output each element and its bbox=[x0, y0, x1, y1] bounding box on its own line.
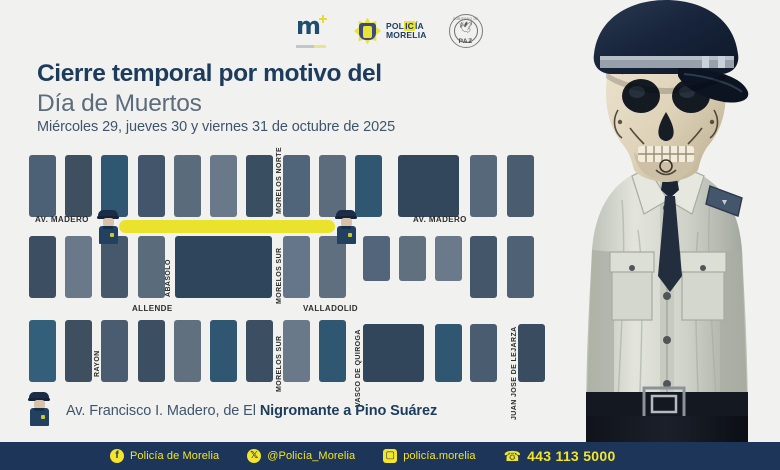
page-title-line1: Cierre temporal por motivo del bbox=[37, 60, 382, 88]
map-city-block bbox=[398, 155, 459, 217]
map-city-block bbox=[319, 236, 346, 298]
event-dates: Miércoles 29, jueves 30 y viernes 31 de … bbox=[37, 119, 395, 135]
map-city-block bbox=[363, 324, 424, 382]
contact-phone[interactable]: ☎ 443 113 5000 bbox=[504, 448, 616, 465]
map-city-block bbox=[283, 155, 310, 217]
footer-bar: f Policía de Morelia 𝕏 @Policía_Morelia … bbox=[0, 442, 780, 470]
map-city-block bbox=[319, 155, 346, 217]
map-city-block bbox=[138, 320, 165, 382]
morelia-plus-icon bbox=[319, 15, 327, 23]
street-label-vertical: ABASOLO bbox=[165, 259, 172, 297]
policia-morelia-wordmark: POLICÍA MORELIA bbox=[386, 22, 427, 41]
facebook-handle: Policía de Morelia bbox=[130, 450, 219, 462]
paz-logo: GOBIERNO DE 🕊 PAZ bbox=[449, 14, 483, 48]
map-city-block bbox=[470, 324, 497, 382]
map-city-block bbox=[399, 236, 426, 281]
map-city-block bbox=[29, 155, 56, 217]
officer-collar-shape bbox=[341, 226, 351, 229]
police-badge-icon bbox=[354, 18, 381, 45]
street-label-vertical: RAYON bbox=[94, 350, 101, 377]
map-city-block bbox=[283, 320, 310, 382]
map-city-block bbox=[175, 236, 272, 298]
map-city-block bbox=[319, 320, 346, 382]
map-city-block bbox=[210, 155, 237, 217]
map-city-block bbox=[355, 155, 382, 217]
policia-morelia-logo: POLICÍA MORELIA bbox=[354, 18, 427, 45]
paz-logo-label: PAZ bbox=[450, 38, 482, 45]
social-facebook[interactable]: f Policía de Morelia bbox=[110, 449, 219, 463]
officer-badge-shape bbox=[110, 233, 114, 237]
instagram-icon: ▢ bbox=[383, 449, 397, 463]
poster-canvas: m POLICÍA MORELIA GOBIERNO DE 🕊 PAZ Cier… bbox=[0, 0, 780, 470]
map-city-block bbox=[470, 155, 497, 217]
morelia-logo-underline bbox=[296, 45, 326, 48]
police-officer-icon bbox=[28, 392, 54, 430]
map-city-block bbox=[210, 320, 237, 382]
map-city-block bbox=[246, 155, 273, 217]
map-city-block bbox=[246, 320, 273, 382]
facebook-icon: f bbox=[110, 449, 124, 463]
map-city-block bbox=[363, 236, 390, 281]
phone-icon: ☎ bbox=[504, 448, 521, 465]
officer-collar-shape bbox=[34, 408, 44, 411]
street-label-horizontal: ALLENDE bbox=[132, 304, 173, 313]
map-city-block bbox=[470, 236, 497, 298]
social-x-twitter[interactable]: 𝕏 @Policía_Morelia bbox=[247, 449, 355, 463]
officer-collar-shape bbox=[103, 226, 113, 229]
phone-number: 443 113 5000 bbox=[527, 448, 615, 464]
instagram-handle: policía.morelia bbox=[403, 450, 475, 462]
closure-description-bold: Nigromante a Pino Suárez bbox=[260, 403, 437, 419]
police-officer-marker-west bbox=[97, 210, 119, 244]
dove-icon: 🕊 bbox=[459, 23, 473, 34]
map-city-block bbox=[507, 155, 534, 217]
social-instagram[interactable]: ▢ policía.morelia bbox=[383, 449, 475, 463]
map-city-block bbox=[507, 236, 534, 298]
map-city-block bbox=[101, 155, 128, 217]
street-label-horizontal: VALLADOLID bbox=[303, 304, 358, 313]
policia-word-highlight: IC bbox=[404, 21, 415, 31]
map-city-block bbox=[435, 236, 462, 281]
street-label-horizontal: AV. MADERO bbox=[35, 215, 89, 224]
x-twitter-handle: @Policía_Morelia bbox=[267, 450, 355, 462]
map-city-block bbox=[101, 236, 128, 298]
map-city-block bbox=[174, 155, 201, 217]
map-city-block bbox=[518, 324, 545, 382]
morelia-word: MORELIA bbox=[386, 31, 427, 41]
map-city-block bbox=[29, 236, 56, 298]
badge-emblem-glyph bbox=[363, 26, 372, 38]
morelia-m-logo: m bbox=[296, 14, 332, 48]
officer-badge-shape bbox=[41, 415, 45, 419]
policia-word-pre: POL bbox=[386, 21, 404, 31]
map-city-block bbox=[65, 155, 92, 217]
closure-description: Av. Francisco I. Madero, de El Nigromant… bbox=[66, 403, 437, 419]
street-closure-bar bbox=[119, 220, 335, 233]
police-officer-marker-east bbox=[335, 210, 357, 244]
map-city-block bbox=[65, 236, 92, 298]
legend-row: Av. Francisco I. Madero, de El Nigromant… bbox=[28, 392, 437, 430]
x-twitter-icon: 𝕏 bbox=[247, 449, 261, 463]
map-city-block bbox=[283, 236, 310, 298]
day-of-the-dead-police-officer-illustration bbox=[552, 0, 780, 442]
officer-badge-shape bbox=[348, 233, 352, 237]
street-label-vertical: MORELOS NORTE bbox=[276, 147, 283, 214]
closure-description-plain: Av. Francisco I. Madero, de El bbox=[66, 403, 260, 419]
street-label-horizontal: AV. MADERO bbox=[413, 215, 467, 224]
map-city-block bbox=[29, 320, 56, 382]
map-city-block bbox=[101, 320, 128, 382]
map-city-block bbox=[435, 324, 462, 382]
logo-strip: m POLICÍA MORELIA GOBIERNO DE 🕊 PAZ bbox=[296, 11, 506, 51]
street-label-vertical: MORELOS SUR bbox=[276, 335, 283, 392]
map-city-block bbox=[174, 320, 201, 382]
map-city-block bbox=[138, 155, 165, 217]
street-label-vertical: JUAN JOSE DE LEJARZA bbox=[511, 326, 518, 420]
map-city-block bbox=[138, 236, 165, 298]
policia-word-post: ÍA bbox=[415, 21, 424, 31]
map-city-block bbox=[65, 320, 92, 382]
street-label-vertical: MORELOS SUR bbox=[276, 247, 283, 304]
page-title-line2: Día de Muertos bbox=[37, 90, 202, 118]
closure-map: AV. MADEROAV. MADEROALLENDEVALLADOLIDRAY… bbox=[18, 152, 556, 392]
